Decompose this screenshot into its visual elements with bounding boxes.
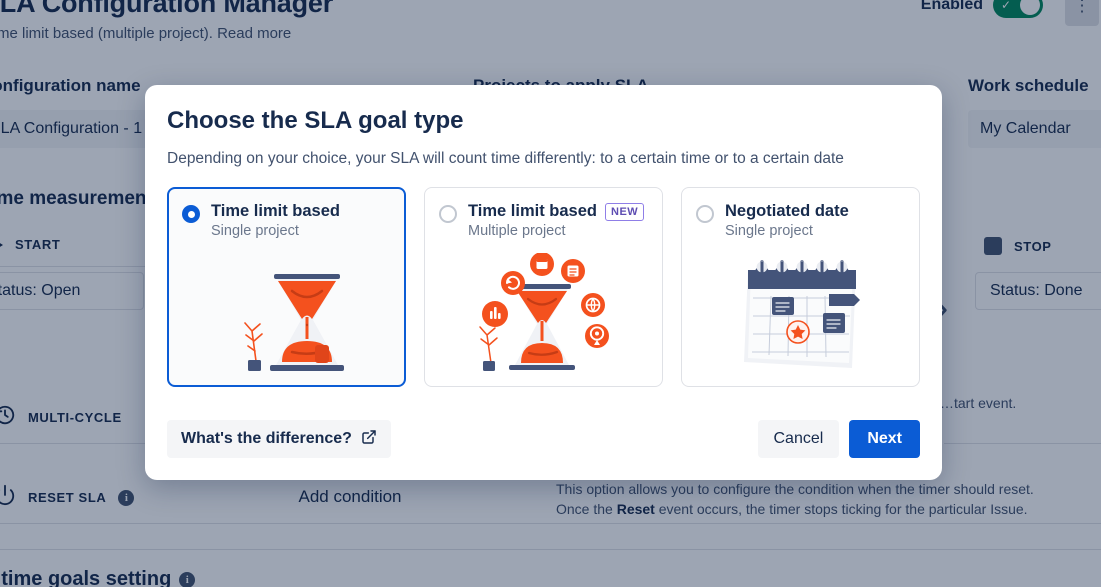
whats-the-difference-label: What's the difference? [181,430,352,448]
whats-the-difference-button[interactable]: What's the difference? [167,420,391,458]
next-button[interactable]: Next [849,420,920,458]
option-subtitle: Single project [211,223,340,239]
option-title: Time limit based NEW [468,202,644,221]
hourglass-illustration [169,252,404,377]
option-title-text: Time limit based [468,202,597,221]
calendar-illustration [682,253,919,378]
option-header: Time limit based NEW Multiple project [439,202,648,239]
external-link-icon [361,429,377,450]
radio-unselected-icon[interactable] [439,205,457,223]
radio-unselected-icon[interactable] [696,205,714,223]
screen: SLA Configuration Manager …me limit base… [0,0,1101,587]
radio-selected-icon[interactable] [182,205,200,223]
option-title-text: Negotiated date [725,202,849,221]
goal-type-options: Time limit based Single project [167,187,920,387]
new-badge: NEW [605,203,644,221]
option-title: Negotiated date [725,202,849,221]
option-header: Time limit based Single project [182,202,391,239]
option-title-text: Time limit based [211,202,340,221]
modal-description: Depending on your choice, your SLA will … [167,147,912,171]
option-titles: Time limit based NEW Multiple project [468,202,644,239]
option-title: Time limit based [211,202,340,221]
modal-title: Choose the SLA goal type [167,107,920,135]
option-card-time-limit-single[interactable]: Time limit based Single project [167,187,406,387]
option-subtitle: Single project [725,223,849,239]
option-card-time-limit-multiple[interactable]: Time limit based NEW Multiple project [424,187,663,387]
hourglass-multi-project-illustration [425,253,662,378]
sla-goal-type-modal: Choose the SLA goal type Depending on yo… [145,85,942,480]
option-header: Negotiated date Single project [696,202,905,239]
option-titles: Negotiated date Single project [725,202,849,239]
modal-footer: What's the difference? Cancel Next [167,420,920,458]
option-card-negotiated-date[interactable]: Negotiated date Single project [681,187,920,387]
footer-actions: Cancel Next [758,420,921,458]
option-titles: Time limit based Single project [211,202,340,239]
option-subtitle: Multiple project [468,223,644,239]
cancel-button[interactable]: Cancel [758,420,840,458]
